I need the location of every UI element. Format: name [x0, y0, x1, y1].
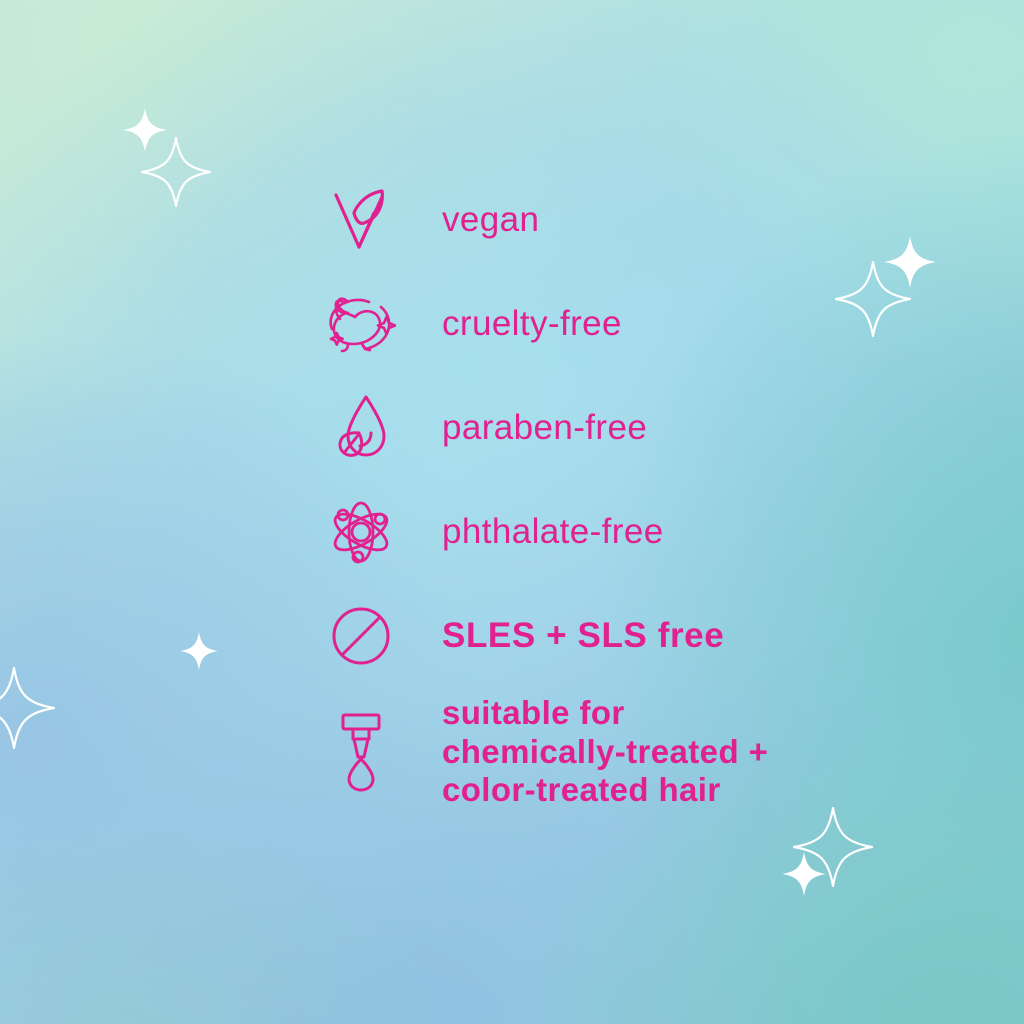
atom-molecule-icon: [322, 499, 400, 565]
sparkle-bottom-right-large: [794, 808, 872, 886]
claim-row: paraben-free: [322, 376, 922, 480]
claim-label: suitable for chemically-treated + color-…: [442, 694, 768, 811]
claim-label: cruelty-free: [442, 304, 622, 343]
claim-label: phthalate-free: [442, 512, 664, 551]
claim-row: suitable for chemically-treated + color-…: [322, 688, 922, 816]
sparkle-bottom-right-small: [782, 852, 826, 896]
sparkle-left-edge-large: [0, 668, 54, 748]
droplet-leaf-icon: [322, 393, 400, 463]
claims-list: vegan cruelty-free paraben-free: [322, 168, 922, 816]
sparkle-left-mid-small: [180, 632, 218, 670]
claim-label: SLES + SLS free: [442, 616, 724, 655]
claims-panel-canvas: vegan cruelty-free paraben-free: [0, 0, 1024, 1024]
claim-label: paraben-free: [442, 408, 647, 447]
claim-row: vegan: [322, 168, 922, 272]
claim-label: vegan: [442, 200, 539, 239]
claim-row: cruelty-free: [322, 272, 922, 376]
claim-row: phthalate-free: [322, 480, 922, 584]
sparkle-top-left-small: [123, 108, 167, 152]
dropper-pipette-drop-icon: [322, 711, 400, 793]
leaping-bunny-cruelty-free-icon: [322, 293, 400, 355]
sparkle-top-left-large: [142, 138, 210, 206]
vegan-leaf-v-icon: [322, 187, 400, 253]
no-entry-circle-slash-icon: [322, 605, 400, 667]
claim-row: SLES + SLS free: [322, 584, 922, 688]
